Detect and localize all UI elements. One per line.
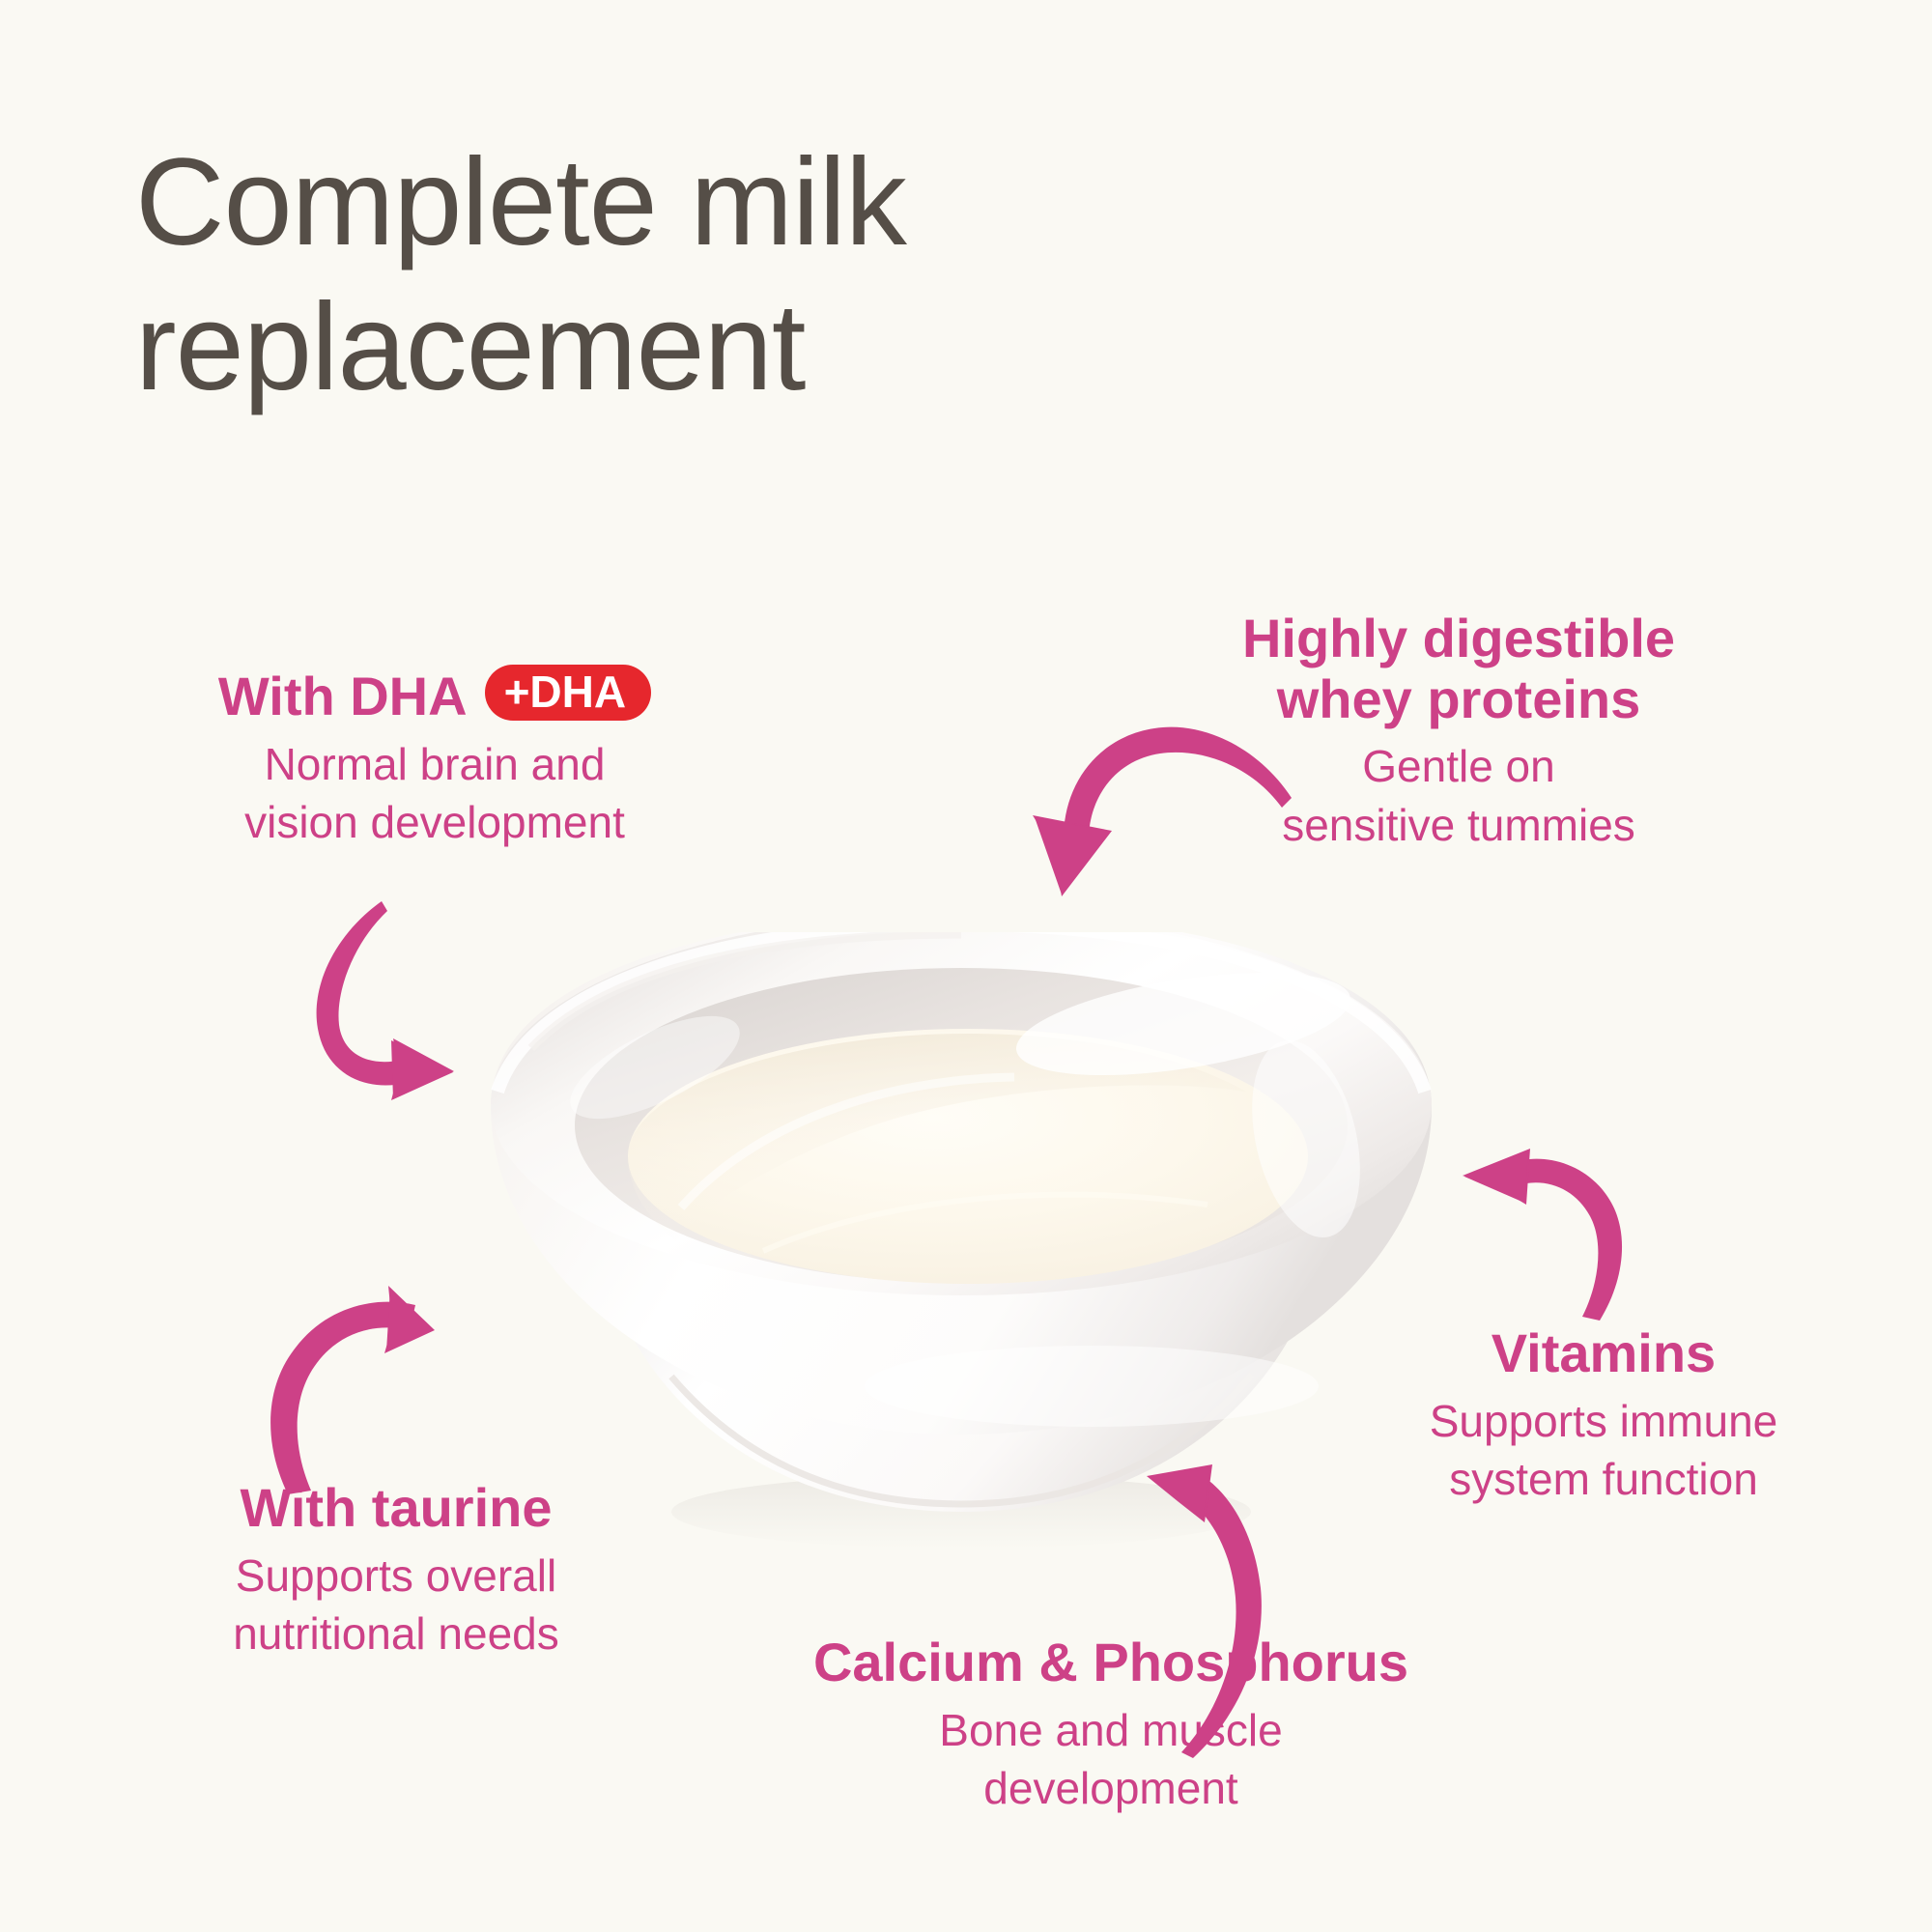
- feature-with-dha-heading: With DHA +DHA: [135, 667, 734, 727]
- feature-with-taurine-subtext: Supports overall nutritional needs: [126, 1547, 667, 1663]
- milk-bowl-image: [473, 932, 1449, 1550]
- feature-calcium-phosphorus-subtext: Bone and muscle development: [676, 1701, 1546, 1818]
- feature-with-taurine: With taurine Supports overall nutritiona…: [126, 1478, 667, 1663]
- page-title: Complete milk replacement: [135, 130, 1391, 420]
- feature-with-dha-subtext: Normal brain and vision development: [135, 735, 734, 852]
- feature-vitamins-heading: Vitamins: [1372, 1323, 1835, 1384]
- feature-vitamins: Vitamins Supports immune system function: [1372, 1323, 1835, 1509]
- feature-vitamins-subtext: Supports immune system function: [1372, 1392, 1835, 1509]
- feature-calcium-phosphorus-heading: Calcium & Phosphorus: [676, 1633, 1546, 1693]
- curved-arrow-down-right-icon: [246, 894, 488, 1111]
- curved-arrow-down-left-icon: [1019, 715, 1299, 942]
- feature-whey-proteins-heading: Highly digestible whey proteins: [1111, 609, 1806, 729]
- plus-dha-badge: +DHA: [485, 665, 652, 721]
- infographic-canvas: Complete milk replacement: [0, 0, 1932, 1932]
- feature-with-dha: With DHA +DHA Normal brain and vision de…: [135, 667, 734, 852]
- feature-calcium-phosphorus: Calcium & Phosphorus Bone and muscle dev…: [676, 1633, 1546, 1818]
- curved-arrow-up-left-tall-icon: [1135, 1459, 1319, 1768]
- feature-with-dha-heading-text: With DHA: [218, 667, 468, 727]
- curved-arrow-up-left-icon: [1430, 1135, 1681, 1328]
- curved-arrow-up-right-icon: [241, 1280, 435, 1502]
